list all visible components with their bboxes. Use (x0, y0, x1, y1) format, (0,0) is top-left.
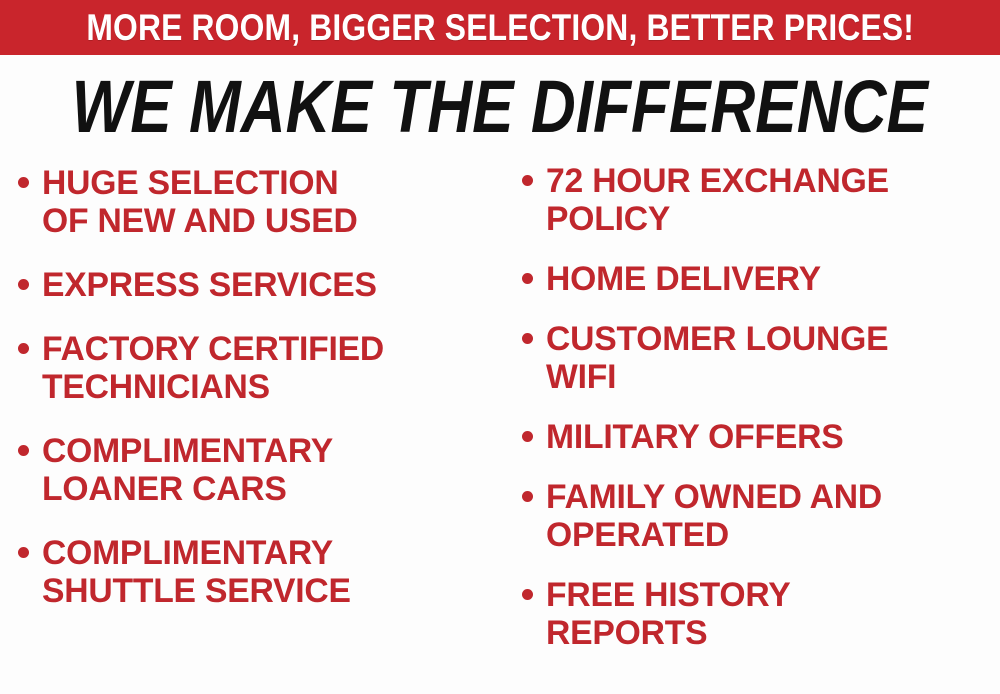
banner-tagline: MORE ROOM, BIGGER SELECTION, BETTER PRIC… (86, 9, 914, 46)
bullet-dot-icon (522, 589, 533, 600)
list-item: HOME DELIVERY (522, 260, 1000, 298)
list-item: FREE HISTORY REPORTS (522, 576, 1000, 652)
feature-label: HOME DELIVERY (546, 260, 821, 298)
top-headline-banner: MORE ROOM, BIGGER SELECTION, BETTER PRIC… (0, 0, 1000, 55)
feature-label: FAMILY OWNED AND OPERATED (546, 478, 882, 554)
bullet-dot-icon (18, 343, 29, 354)
feature-label: MILITARY OFFERS (546, 418, 843, 456)
feature-label: HUGE SELECTION OF NEW AND USED (42, 164, 358, 240)
feature-label: 72 HOUR EXCHANGE POLICY (546, 162, 889, 238)
promotional-banner: MORE ROOM, BIGGER SELECTION, BETTER PRIC… (0, 0, 1000, 694)
bullet-dot-icon (522, 175, 533, 186)
list-item: COMPLIMENTARY SHUTTLE SERVICE (18, 534, 500, 610)
features-columns: HUGE SELECTION OF NEW AND USED EXPRESS S… (0, 158, 1000, 694)
list-item: HUGE SELECTION OF NEW AND USED (18, 164, 500, 240)
list-item: EXPRESS SERVICES (18, 266, 500, 304)
feature-label: COMPLIMENTARY LOANER CARS (42, 432, 333, 508)
list-item: FACTORY CERTIFIED TECHNICIANS (18, 330, 500, 406)
bullet-dot-icon (18, 445, 29, 456)
bullet-dot-icon (522, 333, 533, 344)
bullet-dot-icon (522, 491, 533, 502)
bullet-dot-icon (18, 547, 29, 558)
bullet-dot-icon (522, 273, 533, 284)
list-item: MILITARY OFFERS (522, 418, 1000, 456)
main-headline-area: WE MAKE THE DIFFERENCE (0, 62, 1000, 152)
feature-label: COMPLIMENTARY SHUTTLE SERVICE (42, 534, 351, 610)
bullet-dot-icon (18, 177, 29, 188)
list-item: COMPLIMENTARY LOANER CARS (18, 432, 500, 508)
features-column-left: HUGE SELECTION OF NEW AND USED EXPRESS S… (0, 158, 500, 636)
list-item: CUSTOMER LOUNGE WIFI (522, 320, 1000, 396)
features-column-right: 72 HOUR EXCHANGE POLICY HOME DELIVERY CU… (500, 158, 1000, 674)
feature-label: FREE HISTORY REPORTS (546, 576, 791, 652)
bullet-dot-icon (522, 431, 533, 442)
feature-label: EXPRESS SERVICES (42, 266, 377, 304)
feature-label: CUSTOMER LOUNGE WIFI (546, 320, 888, 396)
feature-label: FACTORY CERTIFIED TECHNICIANS (42, 330, 384, 406)
list-item: FAMILY OWNED AND OPERATED (522, 478, 1000, 554)
bullet-dot-icon (18, 279, 29, 290)
page-title: WE MAKE THE DIFFERENCE (72, 69, 928, 145)
list-item: 72 HOUR EXCHANGE POLICY (522, 162, 1000, 238)
